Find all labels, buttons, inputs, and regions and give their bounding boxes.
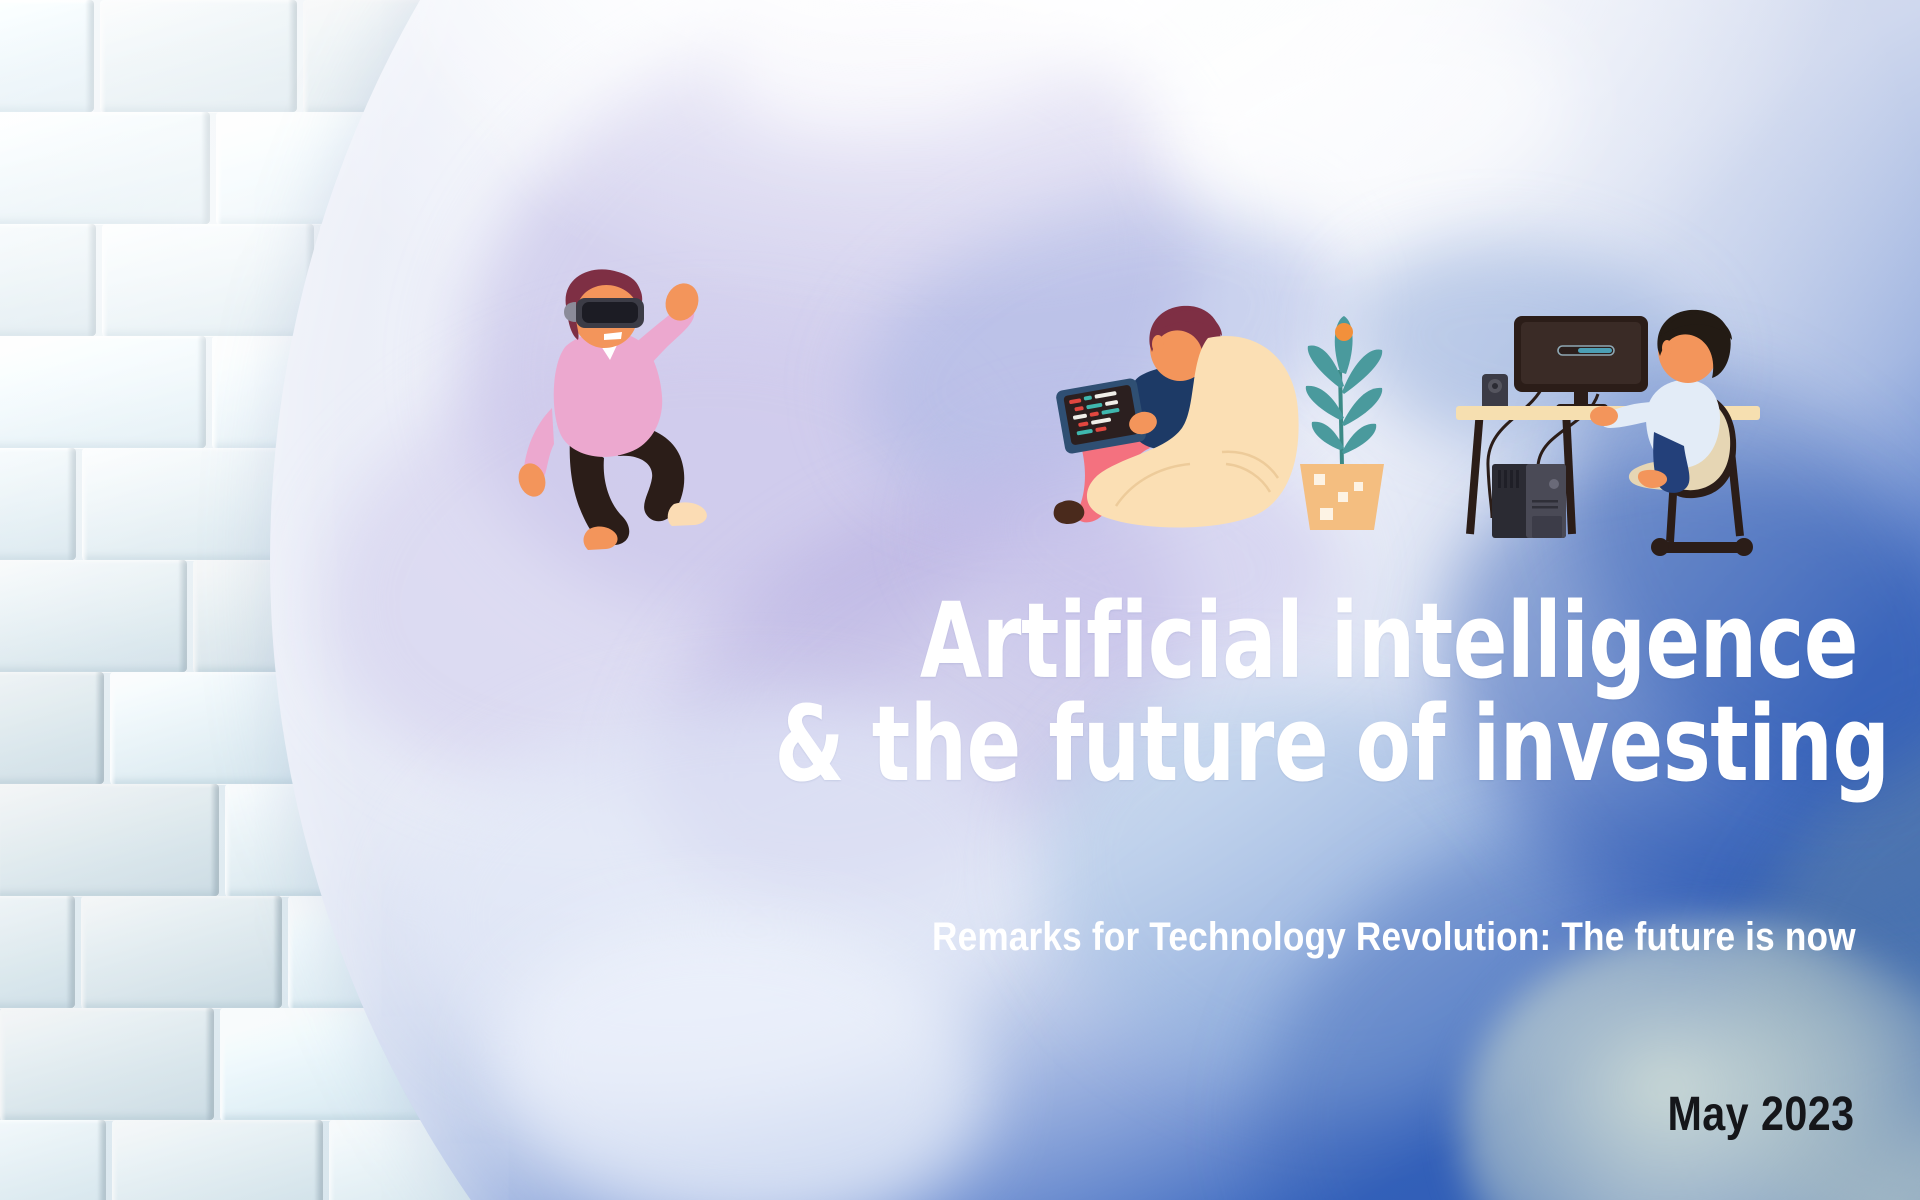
leaf-right-3 [1342,424,1376,454]
desk-worker-illustration [1448,306,1768,556]
loading-bar-fill [1578,348,1612,353]
leaf-left-2 [1306,386,1344,420]
shoe-front [668,502,707,526]
title-line-1: Artificial intelligence [774,590,1858,693]
presentation-title-slide: Artificial intelligence & the future of … [0,0,1920,1200]
shoe [1054,500,1085,524]
title-block: Artificial intelligence & the future of … [598,590,1858,796]
date-label: May 2023 [1667,1087,1854,1142]
subtitle: Remarks for Technology Revolution: The f… [932,915,1856,960]
vr-person-illustration [492,268,722,558]
desk-leg-left [1470,410,1480,534]
leaf-left-3 [1312,422,1344,450]
potted-plant-illustration [1278,316,1408,536]
title-line-2: & the future of investing [774,693,1858,796]
person-hand [1590,406,1618,426]
berry [1335,323,1353,341]
desk-leg-right [1566,410,1572,534]
leaf-right-2 [1342,388,1382,426]
